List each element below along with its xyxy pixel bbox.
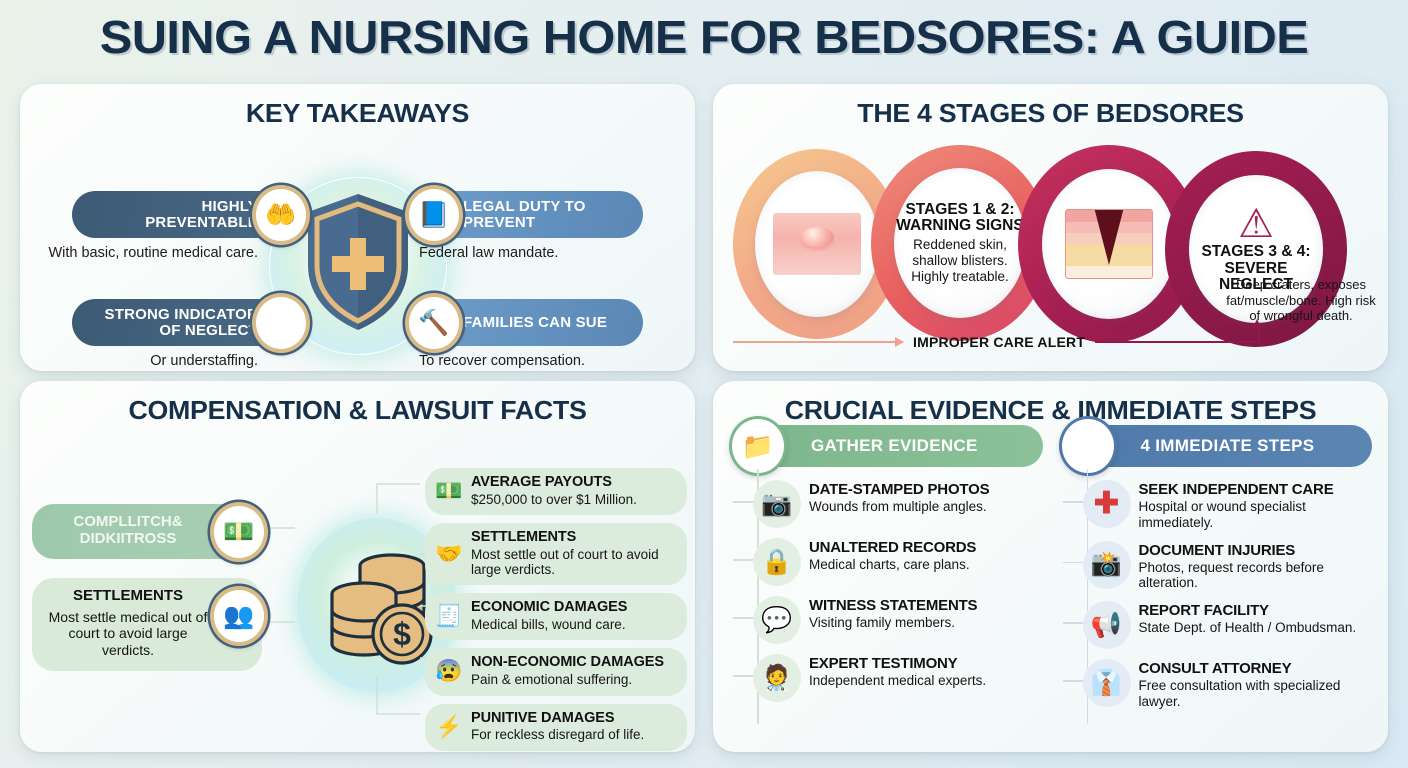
speech-bubble-people-icon: 💬 <box>753 596 801 644</box>
alert-arrow-left-icon <box>733 341 903 343</box>
doctor-microphone-icon: 🧑‍⚕️ <box>753 654 801 702</box>
alert-arrow-right-icon <box>1095 341 1260 343</box>
fact-heading: SETTLEMENTS <box>471 530 677 546</box>
fact-sub: For reckless disregard of life. <box>471 727 677 742</box>
panel-compensation: COMPENSATION & LAWSUIT FACTS $ <box>20 381 695 752</box>
reddened-skin-blister-image <box>773 213 861 275</box>
step-heading: SEEK INDEPENDENT CARE <box>1139 482 1369 498</box>
compensation-left-sub: Most settle medical out of court to avoi… <box>46 609 210 659</box>
step-list-item[interactable]: 📸 DOCUMENT INJURIES Photos, request reco… <box>1059 536 1373 597</box>
step-sub: Photos, request records before alteratio… <box>1139 560 1369 591</box>
takeaway-pill[interactable]: 📘 LEGAL DUTY TO PREVENT <box>411 191 643 238</box>
handshake-document-icon: 🤝 <box>435 543 463 565</box>
compensation-left-item-1[interactable]: COMPLLITCH& DIDKIITROSS 💵 <box>32 504 262 559</box>
megaphone-government-icon: 📢 <box>1083 601 1131 649</box>
evidence-list-item[interactable]: 📷 DATE-STAMPED PHOTOS Wounds from multip… <box>729 475 1043 533</box>
step-list-item[interactable]: 📢 REPORT FACILITY State Dept. of Health … <box>1059 596 1373 654</box>
fact-sub: Pain & emotional suffering. <box>471 672 677 687</box>
spine-stub <box>1063 562 1083 564</box>
panel-evidence-steps: CRUCIAL EVIDENCE & IMMEDIATE STEPS 📁 GAT… <box>713 381 1388 752</box>
step-heading: REPORT FACILITY <box>1139 603 1369 619</box>
spine-stub <box>1063 622 1083 624</box>
spine-stub <box>733 501 753 503</box>
compensation-left-label-line1: COMPLLITCH& <box>46 514 210 531</box>
fact-row[interactable]: ⚡ PUNITIVE DAMAGES For reckless disregar… <box>425 704 687 751</box>
takeaway-sub: To recover compensation. <box>411 353 681 370</box>
attorney-phone-icon: 👔 <box>1083 659 1131 707</box>
distressed-person-icon: 😰 <box>435 660 463 682</box>
takeaway-pill[interactable]: HIGHLY PREVENTABLE 🤲 <box>72 191 304 238</box>
negotiation-people-icon: 👥 <box>210 586 268 646</box>
stage-heading-line1: STAGES 1 & 2: <box>905 202 1014 218</box>
spine-stub <box>1063 501 1083 503</box>
coin-stack-icon: $ <box>320 544 438 672</box>
fact-sub: Most settle out of court to avoid large … <box>471 547 677 578</box>
gather-evidence-label: GATHER EVIDENCE <box>811 436 978 456</box>
stages-body: STAGES 1 & 2: WARNING SIGNS Reddened ski… <box>713 129 1388 359</box>
fact-sub: $250,000 to over $1 Million. <box>471 492 677 507</box>
evidence-sub: Visiting family members. <box>809 615 1039 631</box>
camera-photo-icon: 📸 <box>1083 541 1131 589</box>
fact-row[interactable]: 🧾 ECONOMIC DAMAGES Medical bills, wound … <box>425 593 687 640</box>
gather-evidence-header[interactable]: 📁 GATHER EVIDENCE <box>749 425 1043 467</box>
steps-item-list: ✚ SEEK INDEPENDENT CARE Hospital or woun… <box>1059 475 1373 715</box>
takeaway-item-highly-preventable[interactable]: HIGHLY PREVENTABLE 🤲 With basic, routine… <box>34 191 304 262</box>
takeaway-item-strong-indicator[interactable]: STRONG INDICATOR OF NEGLECT ⛓ Or underst… <box>34 299 304 370</box>
evidence-heading: WITNESS STATEMENTS <box>809 598 1039 614</box>
takeaway-sub: With basic, routine medical care. <box>34 245 304 262</box>
lightning-building-icon: ⚡ <box>435 716 463 738</box>
fact-heading: AVERAGE PAYOUTS <box>471 475 677 491</box>
evidence-list-item[interactable]: 🔒 UNALTERED RECORDS Medical charts, care… <box>729 533 1043 591</box>
fact-heading: ECONOMIC DAMAGES <box>471 600 677 616</box>
takeaway-item-families-can-sue[interactable]: 🔨 FAMILIES CAN SUE To recover compensati… <box>411 299 681 370</box>
deep-tissue-crater-image <box>1065 209 1153 279</box>
law-book-icon: 📘 <box>405 185 463 245</box>
takeaway-pill[interactable]: 🔨 FAMILIES CAN SUE <box>411 299 643 346</box>
evidence-heading: EXPERT TESTIMONY <box>809 656 1039 672</box>
compensation-left-box[interactable]: COMPLLITCH& DIDKIITROSS 💵 <box>32 504 262 559</box>
spine-stub <box>733 559 753 561</box>
compensation-left-box[interactable]: SETTLEMENTS Most settle medical out of c… <box>32 578 262 671</box>
step-heading: DOCUMENT INJURIES <box>1139 543 1369 559</box>
evidence-list-item[interactable]: 🧑‍⚕️ EXPERT TESTIMONY Independent medica… <box>729 649 1043 707</box>
warning-triangle-icon: ⚠ <box>1238 204 1274 244</box>
compensation-title: COMPENSATION & LAWSUIT FACTS <box>20 381 695 426</box>
evidence-sub: Medical charts, care plans. <box>809 557 1039 573</box>
evidence-sub: Wounds from multiple angles. <box>809 499 1039 515</box>
step-list-item[interactable]: ✚ SEEK INDEPENDENT CARE Hospital or woun… <box>1059 475 1373 536</box>
evidence-column-gather: 📁 GATHER EVIDENCE 📷 DATE-STAMPED PHOTOS … <box>729 425 1043 742</box>
blister-shape <box>800 227 834 247</box>
takeaway-label: FAMILIES CAN SUE <box>463 315 607 331</box>
evidence-title: CRUCIAL EVIDENCE & IMMEDIATE STEPS <box>713 381 1388 426</box>
stage-sub: Reddened skin, shallow blisters. Highly … <box>894 237 1026 284</box>
stopwatch-icon: ⏱ <box>1059 416 1117 476</box>
red-cross-icon: ✚ <box>1083 480 1131 528</box>
improper-care-alert-row: IMPROPER CARE ALERT <box>733 331 1353 353</box>
stage-ring-1-inner <box>755 171 879 317</box>
stages-caption: Deep craters, exposes fat/muscle/bone. H… <box>1226 277 1376 324</box>
panel-key-takeaways: KEY TAKEAWAYS HIGHLY P <box>20 84 695 371</box>
compensation-facts-list: 💵 AVERAGE PAYOUTS $250,000 to over $1 Mi… <box>425 468 687 752</box>
step-sub: Free consultation with specialized lawye… <box>1139 678 1369 709</box>
improper-care-alert-label: IMPROPER CARE ALERT <box>913 334 1085 350</box>
evidence-item-list: 📷 DATE-STAMPED PHOTOS Wounds from multip… <box>729 475 1043 707</box>
step-heading: CONSULT ATTORNEY <box>1139 661 1369 677</box>
spine-stub <box>1063 680 1083 682</box>
broken-chain-icon: ⛓ <box>252 293 310 353</box>
evidence-list-item[interactable]: 💬 WITNESS STATEMENTS Visiting family mem… <box>729 591 1043 649</box>
takeaway-label: LEGAL DUTY TO PREVENT <box>463 199 627 231</box>
shield-with-cross-icon <box>302 191 414 333</box>
fact-heading: PUNITIVE DAMAGES <box>471 711 677 727</box>
fact-row[interactable]: 🤝 SETTLEMENTS Most settle out of court t… <box>425 523 687 585</box>
step-sub: Hospital or wound specialist immediately… <box>1139 499 1369 530</box>
evidence-heading: UNALTERED RECORDS <box>809 540 1039 556</box>
stage-heading-line1: STAGES 3 & 4: <box>1201 244 1310 260</box>
compensation-body: $ COMPLLITCH& DIDKIITROSS 💵 <box>20 426 695 746</box>
folder-magnifier-icon: 📁 <box>729 416 787 476</box>
panel-grid: KEY TAKEAWAYS HIGHLY P <box>20 84 1388 752</box>
takeaway-label: HIGHLY PREVENTABLE <box>88 199 258 231</box>
svg-text:$: $ <box>393 616 411 652</box>
evidence-columns: 📁 GATHER EVIDENCE 📷 DATE-STAMPED PHOTOS … <box>729 425 1372 742</box>
key-takeaways-body: HIGHLY PREVENTABLE 🤲 With basic, routine… <box>20 129 695 357</box>
compensation-left-label-line1: SETTLEMENTS <box>46 588 210 605</box>
stage-ring-2-inner: STAGES 1 & 2: WARNING SIGNS Reddened ski… <box>894 168 1026 318</box>
medical-bill-calculator-icon: 🧾 <box>435 605 463 627</box>
takeaway-item-legal-duty[interactable]: 📘 LEGAL DUTY TO PREVENT Federal law mand… <box>411 191 681 262</box>
hand-holding-clock-icon: 🤲 <box>252 185 310 245</box>
spine-stub <box>733 675 753 677</box>
locked-document-icon: 🔒 <box>753 538 801 586</box>
fact-row[interactable]: 💵 AVERAGE PAYOUTS $250,000 to over $1 Mi… <box>425 468 687 515</box>
camera-icon: 📷 <box>753 480 801 528</box>
fact-heading: NON-ECONOMIC DAMAGES <box>471 655 677 671</box>
step-sub: State Dept. of Health / Ombudsman. <box>1139 620 1369 636</box>
takeaway-label: STRONG INDICATOR OF NEGLECT <box>88 307 258 339</box>
evidence-heading: DATE-STAMPED PHOTOS <box>809 482 1039 498</box>
key-takeaways-title: KEY TAKEAWAYS <box>20 84 695 129</box>
immediate-steps-label: 4 IMMEDIATE STEPS <box>1141 436 1315 456</box>
crater-shape <box>1094 209 1124 265</box>
evidence-sub: Independent medical experts. <box>809 673 1039 689</box>
page-title: SUING A NURSING HOME FOR BEDSORES: A GUI… <box>0 0 1408 60</box>
compensation-left-item-2[interactable]: SETTLEMENTS Most settle medical out of c… <box>32 578 262 671</box>
stage-heading-line2: SEVERE <box>1225 261 1288 277</box>
step-list-item[interactable]: 👔 CONSULT ATTORNEY Free consultation wit… <box>1059 654 1373 715</box>
fact-sub: Medical bills, wound care. <box>471 617 677 632</box>
takeaway-pill[interactable]: STRONG INDICATOR OF NEGLECT ⛓ <box>72 299 304 346</box>
stages-title: THE 4 STAGES OF BEDSORES <box>713 84 1388 129</box>
compensation-left-label-line2: DIDKIITROSS <box>46 531 210 548</box>
stage-ring-3-inner <box>1042 169 1176 319</box>
fact-row[interactable]: 😰 NON-ECONOMIC DAMAGES Pain & emotional … <box>425 648 687 695</box>
stage-heading-line2: WARNING SIGNS <box>896 218 1023 234</box>
money-payout-icon: 💵 <box>210 502 268 562</box>
panel-stages: THE 4 STAGES OF BEDSORES STAGES 1 & 2: W… <box>713 84 1388 371</box>
cash-bundle-up-arrow-icon: 💵 <box>435 480 463 502</box>
spine-stub <box>733 617 753 619</box>
takeaway-sub: Federal law mandate. <box>411 245 681 262</box>
immediate-steps-header[interactable]: ⏱ 4 IMMEDIATE STEPS <box>1079 425 1373 467</box>
gavel-icon: 🔨 <box>405 293 463 353</box>
evidence-column-steps: ⏱ 4 IMMEDIATE STEPS ✚ SEEK INDEPENDENT C… <box>1059 425 1373 742</box>
takeaway-sub: Or understaffing. <box>34 353 304 370</box>
